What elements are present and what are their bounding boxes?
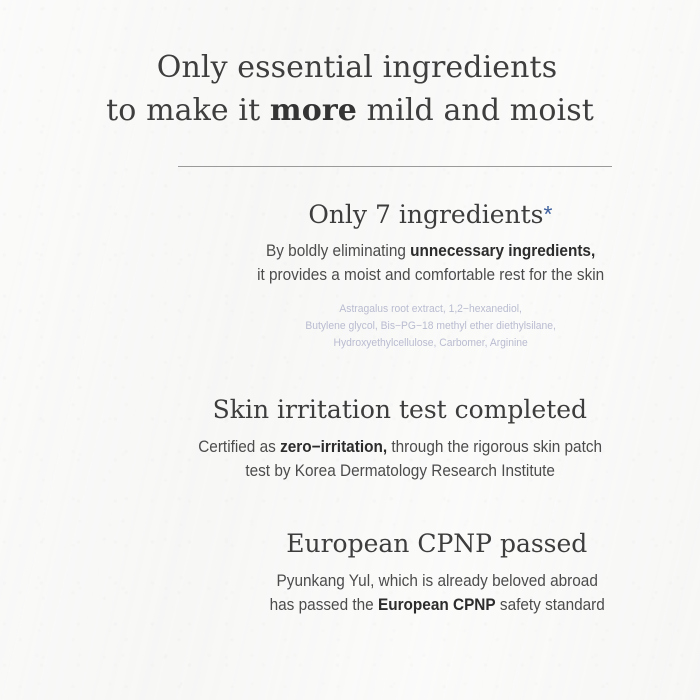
main-heading-line-2-suffix: mild and moist xyxy=(357,93,594,128)
section-body-irritation-line-2: test by Korea Dermatology Research Insti… xyxy=(198,459,602,483)
section-title-ingredients-text: Only 7 ingredients xyxy=(308,200,543,229)
main-heading-emphasis: more xyxy=(270,93,357,128)
section-body-cpnp: Pyunkang Yul, which is already beloved a… xyxy=(269,569,604,617)
body-text-suffix: through the rigorous skin patch xyxy=(387,438,602,456)
section-body-ingredients-line-2: it provides a moist and comfortable rest… xyxy=(257,263,604,287)
body-text-prefix: Certified as xyxy=(198,438,280,456)
main-heading-line-2-prefix: to make it xyxy=(106,93,270,128)
body-text-prefix: By boldly eliminating xyxy=(266,242,410,260)
ingredient-note-line-1: Astragalus root extract, 1,2−hexanediol, xyxy=(255,301,606,318)
section-title-ingredients: Only 7 ingredients* xyxy=(244,198,617,231)
section-title-cpnp: European CPNP passed xyxy=(257,528,617,560)
main-heading: Only essential ingredients to make it mo… xyxy=(0,46,700,132)
body-text-bold: unnecessary ingredients, xyxy=(410,242,595,260)
body-text-prefix: has passed the xyxy=(269,596,377,614)
section-european-cpnp: European CPNP passed Pyunkang Yul, which… xyxy=(257,528,617,617)
asterisk-icon: * xyxy=(543,201,552,227)
ingredient-list-note: Astragalus root extract, 1,2−hexanediol,… xyxy=(255,301,606,352)
section-body-irritation: Certified as zero−irritation, through th… xyxy=(198,435,602,483)
section-only-7-ingredients: Only 7 ingredients* By boldly eliminatin… xyxy=(244,198,617,352)
body-text-suffix: safety standard xyxy=(495,596,604,614)
content-area: Only essential ingredients to make it mo… xyxy=(0,0,700,700)
section-body-cpnp-line-2: has passed the European CPNP safety stan… xyxy=(269,593,604,617)
ingredient-note-line-3: Hydroxyethylcellulose, Carbomer, Arginin… xyxy=(255,335,606,352)
section-body-irritation-line-1: Certified as zero−irritation, through th… xyxy=(198,435,602,459)
section-body-cpnp-line-1: Pyunkang Yul, which is already beloved a… xyxy=(269,569,604,593)
body-text-bold: European CPNP xyxy=(378,596,496,614)
section-skin-irritation-test: Skin irritation test completed Certified… xyxy=(183,394,617,483)
main-heading-line-1: Only essential ingredients xyxy=(0,46,700,89)
section-body-ingredients: By boldly eliminating unnecessary ingred… xyxy=(257,239,604,287)
ingredient-note-line-2: Butylene glycol, Bis−PG−18 methyl ether … xyxy=(255,318,606,335)
body-text-bold: zero−irritation, xyxy=(280,438,387,456)
section-title-irritation: Skin irritation test completed xyxy=(183,394,617,426)
header-divider xyxy=(178,166,612,167)
section-body-ingredients-line-1: By boldly eliminating unnecessary ingred… xyxy=(257,239,604,263)
main-heading-line-2: to make it more mild and moist xyxy=(0,89,700,132)
info-panel: Only essential ingredients to make it mo… xyxy=(0,0,700,700)
